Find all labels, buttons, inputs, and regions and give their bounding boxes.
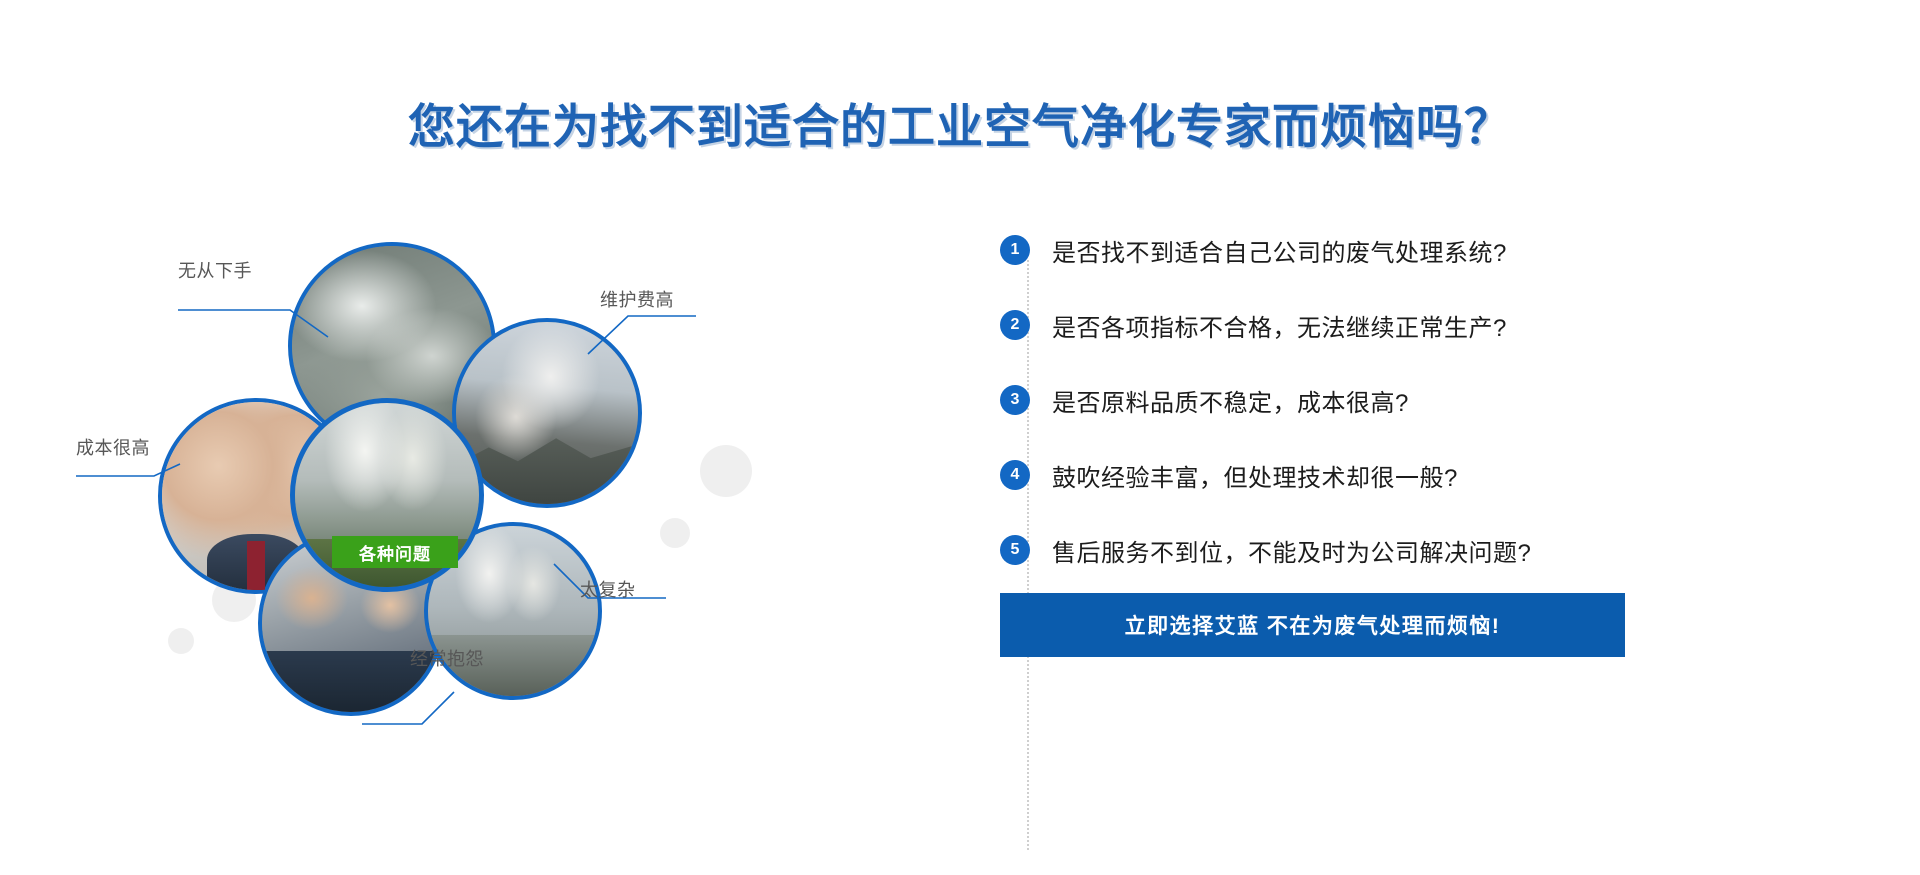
- list-number-badge: 4: [1000, 460, 1030, 490]
- leader-line-top-left: [178, 280, 338, 338]
- list-item: 2 是否各项指标不合格，无法继续正常生产?: [1000, 301, 1820, 349]
- content-area: 各种问题 无从下手 维护费高 成本很高: [0, 230, 1920, 875]
- leader-line-top-right: [566, 308, 696, 358]
- leader-line-left: [76, 458, 186, 494]
- list-item: 1 是否找不到适合自己公司的废气处理系统?: [1000, 226, 1820, 274]
- label-top-left: 无从下手: [178, 257, 252, 283]
- center-badge: 各种问题: [332, 536, 458, 568]
- cta-button-label: 立即选择艾蓝 不在为废气处理而烦恼!: [1125, 610, 1501, 640]
- cta-button[interactable]: 立即选择艾蓝 不在为废气处理而烦恼!: [1000, 593, 1625, 657]
- page-title: 您还在为找不到适合的工业空气净化专家而烦恼吗？: [0, 88, 1920, 157]
- list-number-badge: 2: [1000, 310, 1030, 340]
- list-number-badge: 3: [1000, 385, 1030, 415]
- questions-panel: 1 是否找不到适合自己公司的废气处理系统? 2 是否各项指标不合格，无法继续正常…: [1060, 230, 1920, 870]
- label-bottom: 经常抱怨: [410, 645, 484, 671]
- label-top-right: 维护费高: [600, 286, 674, 312]
- problem-diagram: 各种问题 无从下手 维护费高 成本很高: [0, 230, 1020, 870]
- label-bottom-right: 太复杂: [580, 576, 636, 602]
- list-number-badge: 1: [1000, 235, 1030, 265]
- list-item-label: 鼓吹经验丰富，但处理技术却很一般?: [1052, 458, 1458, 493]
- list-item: 3 是否原料品质不稳定，成本很高?: [1000, 376, 1820, 424]
- label-left: 成本很高: [76, 434, 150, 460]
- question-list: 1 是否找不到适合自己公司的废气处理系统? 2 是否各项指标不合格，无法继续正常…: [1000, 226, 1820, 601]
- decorative-circle: [700, 445, 752, 497]
- list-item-label: 是否原料品质不稳定，成本很高?: [1052, 383, 1409, 418]
- promo-page: 您还在为找不到适合的工业空气净化专家而烦恼吗？: [0, 0, 1920, 875]
- list-item: 4 鼓吹经验丰富，但处理技术却很一般?: [1000, 451, 1820, 499]
- decorative-circle: [168, 628, 194, 654]
- list-item-label: 售后服务不到位，不能及时为公司解决问题?: [1052, 533, 1531, 568]
- list-item-label: 是否找不到适合自己公司的废气处理系统?: [1052, 233, 1507, 268]
- list-item: 5 售后服务不到位，不能及时为公司解决问题?: [1000, 526, 1820, 574]
- decorative-circle: [660, 518, 690, 548]
- list-item-label: 是否各项指标不合格，无法继续正常生产?: [1052, 308, 1507, 343]
- list-number-badge: 5: [1000, 535, 1030, 565]
- leader-line-bottom: [362, 692, 492, 736]
- headline-text: 您还在为找不到适合的工业空气净化专家而烦恼吗？: [408, 88, 1512, 157]
